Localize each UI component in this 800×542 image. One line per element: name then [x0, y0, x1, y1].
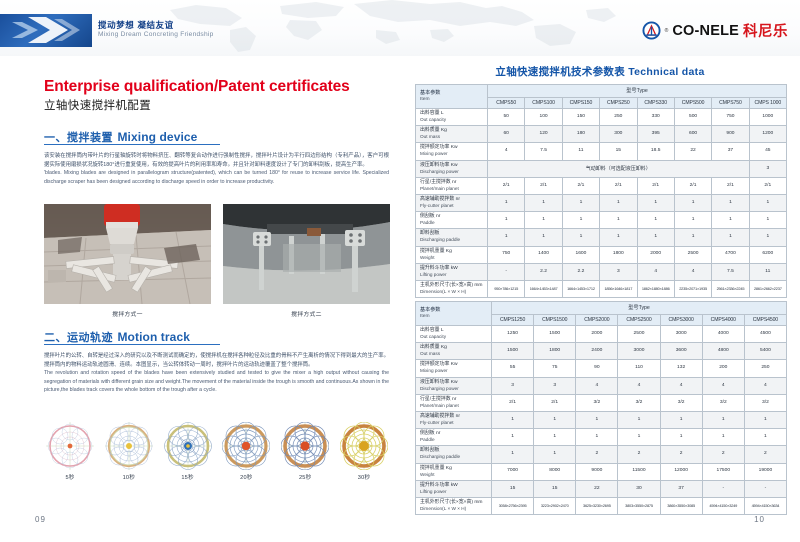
value-cell: 1 — [702, 411, 744, 428]
merged-value-cell: 气动卸料（可选配液压卸料） — [488, 160, 750, 177]
value-cell: 1800 — [534, 343, 576, 360]
model-header-cell: CMPS2000 — [576, 315, 618, 326]
value-cell: 1 — [576, 429, 618, 446]
value-cell: 11500 — [618, 463, 660, 480]
table-row: 侧刮板 nrPaddle11111111 — [416, 212, 787, 229]
value-cell: 1500 — [534, 326, 576, 343]
value-cell: 1 — [488, 212, 525, 229]
value-cell: 4 — [660, 377, 702, 394]
model-header-cell: CMPS1250 — [492, 315, 534, 326]
table-row: 卸料刮板Discharging paddle11111111 — [416, 229, 787, 246]
value-cell: 2561×2336×2245 — [712, 280, 749, 297]
value-cell: 11 — [562, 143, 599, 160]
table-row: 搅拌机重量 KgWeight70008000900011500120001750… — [416, 463, 787, 480]
row-label-cell: 出料质量 KgOut mass — [416, 343, 492, 360]
model-header-cell: CMPS750 — [712, 98, 749, 109]
brochure-page: 搅动梦想 凝结友谊 Mixing Dream Concreting Friend… — [0, 0, 800, 542]
row-label-cell: 出料容量 LOut capacity — [416, 109, 488, 126]
value-cell: 4000 — [702, 326, 744, 343]
value-cell: 3 — [534, 377, 576, 394]
table-row: 搅拌机重量 KgWeight75014001600180020002500470… — [416, 246, 787, 263]
value-cell: 1 — [534, 429, 576, 446]
value-cell: 3860×3550×3085 — [660, 497, 702, 514]
track-diagram-25s — [281, 422, 329, 470]
value-cell: 1 — [660, 429, 702, 446]
value-cell: 2.2 — [562, 263, 599, 280]
value-cell: 1 — [562, 212, 599, 229]
track-item: 20秒 — [220, 422, 272, 481]
value-cell: 4800 — [702, 343, 744, 360]
value-cell: 1200 — [749, 126, 786, 143]
value-cell: 1 — [749, 229, 786, 246]
track-diagram-30s — [340, 422, 388, 470]
value-cell: 300 — [600, 126, 637, 143]
value-cell: 1 — [674, 212, 711, 229]
value-cell: 7.5 — [525, 143, 562, 160]
mixing-device-photos: 搅拌方式一 — [44, 204, 390, 318]
value-cell: 3600 — [660, 343, 702, 360]
track-caption: 10秒 — [103, 473, 155, 481]
value-cell: 1 — [562, 229, 599, 246]
mixing-head-photo — [44, 204, 211, 304]
section2-paragraph: 搅拌叶片的公转、自转是经过深入的研究以及不断测试而确定的，使搅拌机在搅拌各种粒径… — [44, 352, 389, 394]
value-cell: 1 — [674, 194, 711, 211]
value-cell: 4594×4150×3249 — [702, 497, 744, 514]
registered-trademark-symbol: ® — [665, 28, 669, 34]
value-cell: 4700 — [712, 246, 749, 263]
row-label-cell: 出料容量 LOut capacity — [416, 326, 492, 343]
value-cell: 9000 — [576, 463, 618, 480]
value-cell: 22 — [576, 480, 618, 497]
model-header-cell: CMPS 1000 — [749, 98, 786, 109]
value-cell: 1 — [576, 411, 618, 428]
value-cell: 1800 — [600, 246, 637, 263]
table-row: 出料容量 LOut capacity1250150020002500300040… — [416, 326, 787, 343]
value-cell: 1500 — [492, 343, 534, 360]
value-cell: 7000 — [492, 463, 534, 480]
photo-block-2: 搅拌方式二 — [223, 204, 390, 318]
table-row: 行星/主搅拌数 nrPlanet/main planet2/12/12/12/1… — [416, 177, 787, 194]
value-cell: 1 — [492, 429, 534, 446]
value-cell: 3/2 — [702, 394, 744, 411]
row-label-cell: 搅拌额定功率 KwMixing power — [416, 360, 492, 377]
value-cell: 750 — [488, 246, 525, 263]
value-cell: 4 — [702, 377, 744, 394]
value-cell: 2 — [744, 446, 786, 463]
value-cell: 2000 — [576, 326, 618, 343]
value-cell: 3/2 — [660, 394, 702, 411]
model-header-cell: CMPS500 — [674, 98, 711, 109]
value-cell: 3/2 — [576, 394, 618, 411]
conele-logo: ® CO-NELE 科尼乐 — [642, 20, 788, 41]
table-row: 侧刮板 nrPaddle1111111 — [416, 429, 787, 446]
value-cell: 1 — [712, 194, 749, 211]
model-header-cell: CMPS250 — [600, 98, 637, 109]
value-cell: 2/1 — [600, 177, 637, 194]
table-row: 行星/主搅拌数 nrPlanet/main planet2/12/13/23/2… — [416, 394, 787, 411]
section2-heading-en: Motion track — [117, 330, 190, 344]
value-cell: 1 — [637, 194, 674, 211]
value-cell: 250 — [744, 360, 786, 377]
value-cell: 1 — [744, 429, 786, 446]
value-cell: 2/1 — [712, 177, 749, 194]
value-cell: 1664×1453×1487 — [525, 280, 562, 297]
value-cell: 330 — [637, 109, 674, 126]
row-label-cell: 搅拌机重量 KgWeight — [416, 246, 488, 263]
model-header-cell: CMPS2500 — [618, 315, 660, 326]
track-item: 25秒 — [279, 422, 331, 481]
technical-data-title-en: Technical data — [628, 66, 704, 78]
value-cell: 1 — [525, 212, 562, 229]
table-row: 液压卸料功率 KwDischarging power3344444 — [416, 377, 787, 394]
value-cell: 90 — [576, 360, 618, 377]
value-cell: 1 — [702, 429, 744, 446]
value-cell: 37 — [712, 143, 749, 160]
table-row: 卸料刮板Discharging paddle1122222 — [416, 446, 787, 463]
track-caption: 25秒 — [279, 473, 331, 481]
value-cell: 4 — [674, 263, 711, 280]
table-row: 主机外形尺寸(长×宽×高) mmDimension(L × W × H)3058… — [416, 497, 787, 514]
value-cell: 1862×1880×1886 — [637, 280, 674, 297]
row-label-cell: 出料质量 KgOut mass — [416, 126, 488, 143]
row-label-cell: 液压卸料功率 KwDischarging power — [416, 377, 492, 394]
value-cell: 2235×2071×1935 — [674, 280, 711, 297]
value-cell: 2/1 — [674, 177, 711, 194]
value-cell: 11 — [749, 263, 786, 280]
table-row: 提升料斗功率 kWLifting power-2.22.23447.511 — [416, 263, 787, 280]
page-title-en: Enterprise qualification/Patent certific… — [44, 78, 350, 96]
section2-paragraph-cn: 搅拌叶片的公转、自转是经过深入的研究以及不断测试而确定的，使搅拌机在搅拌各种粒径… — [44, 352, 389, 369]
row-label-cell: 行星/主搅拌数 nrPlanet/main planet — [416, 177, 488, 194]
value-cell: 3803×3550×2875 — [618, 497, 660, 514]
track-item: 5秒 — [44, 422, 96, 481]
brand-chevron-logo — [0, 14, 92, 47]
value-cell: 2/1 — [492, 394, 534, 411]
row-label-cell: 侧刮板 nrPaddle — [416, 212, 488, 229]
value-cell: 15 — [492, 480, 534, 497]
value-cell: 2/1 — [749, 177, 786, 194]
value-cell: 120 — [525, 126, 562, 143]
value-cell: 15 — [600, 143, 637, 160]
type-header-cell: 型号Type — [492, 302, 787, 315]
track-item: 15秒 — [162, 422, 214, 481]
item-header-cell: 基本参数Item — [416, 85, 488, 109]
value-cell: 3 — [492, 377, 534, 394]
row-label-cell: 卸料刮板Discharging paddle — [416, 229, 488, 246]
value-cell: 12000 — [660, 463, 702, 480]
value-cell: 1 — [525, 229, 562, 246]
row-label-cell: 搅拌额定功率 KwMixing power — [416, 143, 488, 160]
page-title-cn: 立轴快速搅拌机配置 — [44, 97, 151, 113]
value-cell: - — [744, 480, 786, 497]
table-row: 提升料斗功率 kWLifting power1515223037-- — [416, 480, 787, 497]
value-cell: 2/1 — [488, 177, 525, 194]
value-cell: 150 — [562, 109, 599, 126]
value-cell: 1000 — [749, 109, 786, 126]
model-header-cell: CMPS100 — [525, 98, 562, 109]
value-cell: 110 — [618, 360, 660, 377]
value-cell: 3 — [749, 160, 786, 177]
model-header-cell: CMPS50 — [488, 98, 525, 109]
value-cell: 2861×2662×2237 — [749, 280, 786, 297]
value-cell: 3/2 — [618, 394, 660, 411]
row-label-cell: 液压卸料功率 KwDischarging power — [416, 160, 488, 177]
table-header-row: 基本参数Item型号Type — [416, 302, 787, 315]
value-cell: 1 — [749, 194, 786, 211]
mixing-arms-photo — [223, 204, 390, 304]
brand-slogan-cn: 搅动梦想 凝结友谊 — [98, 19, 174, 31]
table-row: 主机外形尺寸(长×宽×高) mmDimension(L × W × H)950×… — [416, 280, 787, 297]
photo-block-1: 搅拌方式一 — [44, 204, 211, 318]
section2-heading-cn: 二、运动轨迹 — [44, 332, 113, 344]
track-caption: 30秒 — [338, 473, 390, 481]
type-header-cell: 型号Type — [488, 85, 787, 98]
value-cell: 1600 — [562, 246, 599, 263]
section1-heading-cn: 一、搅拌装置 — [44, 132, 113, 144]
row-label-cell: 搅拌机重量 KgWeight — [416, 463, 492, 480]
track-diagram-5s — [46, 422, 94, 470]
value-cell: 1 — [674, 229, 711, 246]
photo-caption-1: 搅拌方式一 — [44, 309, 211, 318]
row-label-cell: 行星/主搅拌数 nrPlanet/main planet — [416, 394, 492, 411]
value-cell: 4594×4150×3634 — [744, 497, 786, 514]
value-cell: 1 — [492, 446, 534, 463]
track-item: 30秒 — [338, 422, 390, 481]
value-cell: 1 — [534, 411, 576, 428]
value-cell: 1 — [749, 212, 786, 229]
value-cell: 19000 — [744, 463, 786, 480]
track-diagram-20s — [222, 422, 270, 470]
table-row: 出料质量 KgOut mass1500180024003000360048005… — [416, 343, 787, 360]
value-cell: 1 — [744, 411, 786, 428]
value-cell: 250 — [600, 109, 637, 126]
table-row: 搅拌额定功率 KwMixing power47.5111518.5223745 — [416, 143, 787, 160]
value-cell: 1 — [618, 429, 660, 446]
technical-data-title: 立轴快速搅拌机技术参数表 Technical data — [400, 64, 800, 79]
conele-wordmark-cn: 科尼乐 — [743, 20, 788, 41]
page-number-left: 09 — [35, 515, 46, 524]
table-header-row: 基本参数Item型号Type — [416, 85, 787, 98]
technical-data-title-cn: 立轴快速搅拌机技术参数表 — [495, 66, 625, 78]
value-cell: 2000 — [637, 246, 674, 263]
value-cell: 100 — [525, 109, 562, 126]
model-header-cell: CMPS150 — [562, 98, 599, 109]
conele-mark-icon — [642, 21, 661, 40]
technical-data-table-2: 基本参数Item型号TypeCMPS1250CMPS1500CMPS2000CM… — [415, 301, 787, 515]
model-header-cell: CMPS3000 — [660, 315, 702, 326]
value-cell: 17500 — [702, 463, 744, 480]
value-cell: 60 — [488, 126, 525, 143]
value-cell: 1856×1646×1817 — [600, 280, 637, 297]
value-cell: 3 — [600, 263, 637, 280]
motion-track-diagrams: 5秒 — [44, 422, 390, 481]
track-caption: 20秒 — [220, 473, 272, 481]
track-item: 10秒 — [103, 422, 155, 481]
value-cell: 2 — [618, 446, 660, 463]
value-cell: 2500 — [618, 326, 660, 343]
track-diagram-10s — [105, 422, 153, 470]
value-cell: 75 — [534, 360, 576, 377]
row-label-cell: 提升料斗功率 kWLifting power — [416, 263, 488, 280]
value-cell: 1 — [600, 229, 637, 246]
row-label-cell: 提升料斗功率 kWLifting power — [416, 480, 492, 497]
page-number-right: 10 — [754, 515, 765, 524]
value-cell: 2 — [660, 446, 702, 463]
table-row: 出料质量 KgOut mass601201803003956009001200 — [416, 126, 787, 143]
value-cell: 3058×2756×2395 — [492, 497, 534, 514]
value-cell: 1 — [600, 194, 637, 211]
value-cell: 2400 — [576, 343, 618, 360]
conele-wordmark: CO-NELE — [672, 23, 739, 39]
section1-paragraph-en: 'blades. Mixing blades are designed in p… — [44, 169, 389, 186]
value-cell: 500 — [674, 109, 711, 126]
value-cell: 2 — [576, 446, 618, 463]
value-cell: 1400 — [525, 246, 562, 263]
row-label-cell: 主机外形尺寸(长×宽×高) mmDimension(L × W × H) — [416, 280, 488, 297]
value-cell: 1 — [600, 212, 637, 229]
technical-data-table-1: 基本参数Item型号TypeCMPS50CMPS100CMPS150CMPS25… — [415, 84, 787, 298]
value-cell: 1 — [618, 411, 660, 428]
model-header-cell: CMPS4500 — [744, 315, 786, 326]
table-row: 液压卸料功率 KwDischarging power气动卸料（可选配液压卸料）3 — [416, 160, 787, 177]
model-header-cell: CMPS4000 — [702, 315, 744, 326]
photo-caption-2: 搅拌方式二 — [223, 309, 390, 318]
row-label-cell: 高速辅助搅拌数 nrFly-cutter planet — [416, 411, 492, 428]
value-cell: 1 — [712, 212, 749, 229]
value-cell: 4 — [618, 377, 660, 394]
value-cell: 2/1 — [525, 177, 562, 194]
item-header-cell: 基本参数Item — [416, 302, 492, 326]
value-cell: 3223×2902×2470 — [534, 497, 576, 514]
right-page: 立轴快速搅拌机技术参数表 Technical data 基本参数Item型号Ty… — [400, 56, 800, 542]
value-cell: 30 — [618, 480, 660, 497]
value-cell: 1 — [492, 411, 534, 428]
value-cell: 180 — [562, 126, 599, 143]
value-cell: 395 — [637, 126, 674, 143]
value-cell: 4 — [744, 377, 786, 394]
value-cell: 8000 — [534, 463, 576, 480]
value-cell: 900 — [712, 126, 749, 143]
value-cell: 50 — [488, 109, 525, 126]
model-header-cell: CMPS330 — [637, 98, 674, 109]
value-cell: 5400 — [744, 343, 786, 360]
value-cell: 750 — [712, 109, 749, 126]
value-cell: 6200 — [749, 246, 786, 263]
value-cell: 2/1 — [562, 177, 599, 194]
value-cell: 1 — [712, 229, 749, 246]
row-label-cell: 卸料刮板Discharging paddle — [416, 446, 492, 463]
value-cell: 3/2 — [744, 394, 786, 411]
row-label-cell: 侧刮板 nrPaddle — [416, 429, 492, 446]
value-cell: 3000 — [618, 343, 660, 360]
table-row: 高速辅助搅拌数 nrFly-cutter planet11111111 — [416, 194, 787, 211]
value-cell: 2.2 — [525, 263, 562, 280]
value-cell: 1 — [660, 411, 702, 428]
value-cell: 1 — [488, 229, 525, 246]
value-cell: 600 — [674, 126, 711, 143]
brand-slogan-en: Mixing Dream Concreting Friendship — [98, 31, 214, 38]
value-cell: 950×786×1215 — [488, 280, 525, 297]
value-cell: 1 — [488, 194, 525, 211]
value-cell: 1250 — [492, 326, 534, 343]
value-cell: 2/1 — [534, 394, 576, 411]
value-cell: 2500 — [674, 246, 711, 263]
value-cell: 3625×3230×2695 — [576, 497, 618, 514]
value-cell: 132 — [660, 360, 702, 377]
value-cell: 1 — [534, 446, 576, 463]
value-cell: 4 — [637, 263, 674, 280]
value-cell: 37 — [660, 480, 702, 497]
track-diagram-15s — [164, 422, 212, 470]
value-cell: - — [488, 263, 525, 280]
value-cell: 7.5 — [712, 263, 749, 280]
value-cell: 18.5 — [637, 143, 674, 160]
value-cell: 22 — [674, 143, 711, 160]
track-caption: 5秒 — [44, 473, 96, 481]
value-cell: 1 — [637, 212, 674, 229]
value-cell: 55 — [492, 360, 534, 377]
value-cell: 4 — [488, 143, 525, 160]
section2-paragraph-en: The revolution and rotation speed of the… — [44, 369, 389, 394]
row-label-cell: 主机外形尺寸(长×宽×高) mmDimension(L × W × H) — [416, 497, 492, 514]
table-row: 高速辅助搅拌数 nrFly-cutter planet1111111 — [416, 411, 787, 428]
value-cell: 15 — [534, 480, 576, 497]
track-caption: 15秒 — [162, 473, 214, 481]
value-cell: 2 — [702, 446, 744, 463]
value-cell: 4500 — [744, 326, 786, 343]
section2-underline — [44, 344, 220, 345]
value-cell: 4 — [576, 377, 618, 394]
section1-heading-en: Mixing device — [117, 130, 197, 144]
model-header-cell: CMPS1500 — [534, 315, 576, 326]
value-cell: 1664×1453×1712 — [562, 280, 599, 297]
row-label-cell: 高速辅助搅拌数 nrFly-cutter planet — [416, 194, 488, 211]
value-cell: 1 — [525, 194, 562, 211]
value-cell: 2/1 — [637, 177, 674, 194]
section1-paragraph: 该安装在搅拌筒内带叶片的行星轴旋转时将物料挤压、翻转等复合动作进行强制性搅拌，搅… — [44, 152, 389, 186]
value-cell: - — [702, 480, 744, 497]
value-cell: 1 — [562, 194, 599, 211]
section1-underline — [44, 144, 220, 145]
value-cell: 1 — [637, 229, 674, 246]
value-cell: 3000 — [660, 326, 702, 343]
value-cell: 45 — [749, 143, 786, 160]
world-map-graphic — [130, 0, 650, 56]
table-row: 出料容量 LOut capacity5010015025033050075010… — [416, 109, 787, 126]
section1-paragraph-cn: 该安装在搅拌筒内带叶片的行星轴旋转时将物料挤压、翻转等复合动作进行强制性搅拌，搅… — [44, 152, 389, 169]
left-page: Enterprise qualification/Patent certific… — [0, 56, 400, 542]
value-cell: 200 — [702, 360, 744, 377]
page-header: 搅动梦想 凝结友谊 Mixing Dream Concreting Friend… — [0, 0, 800, 56]
table-row: 搅拌额定功率 KwMixing power557590110132200250 — [416, 360, 787, 377]
